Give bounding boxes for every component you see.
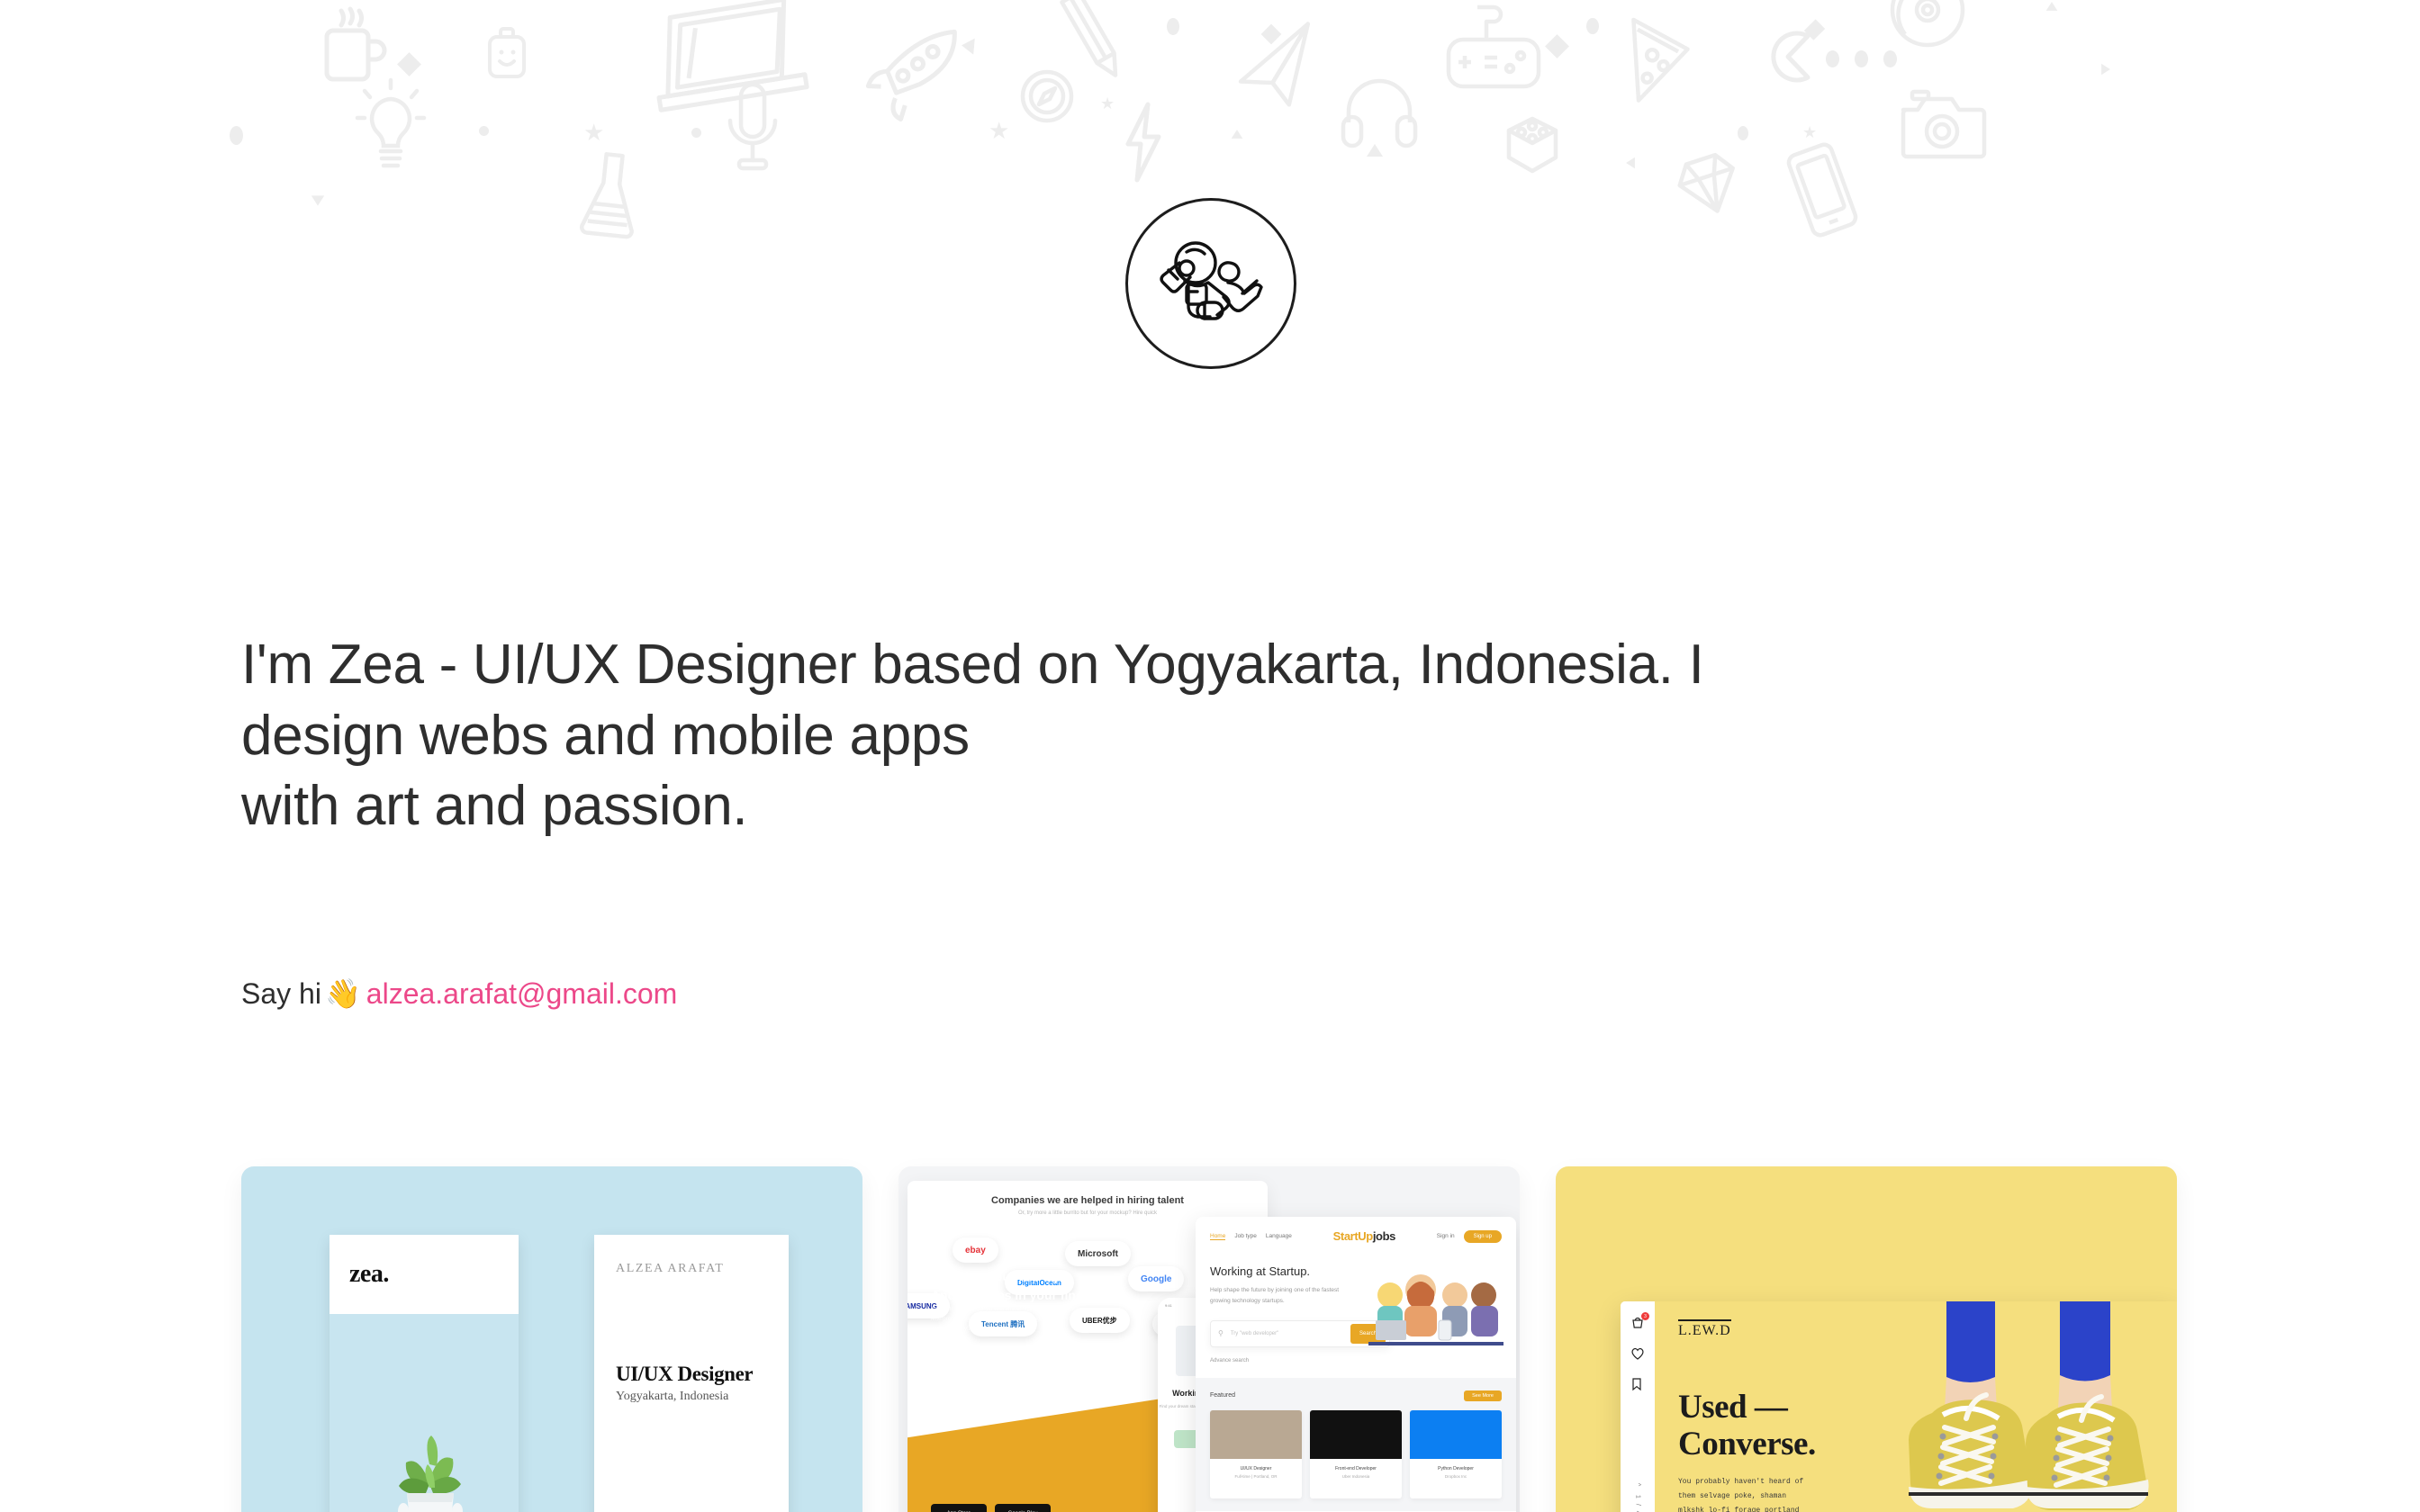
lewd-site-mockup: 3 ^ 1 / 4 v L.EW.D (1621, 1301, 2177, 1512)
carousel-pagination[interactable]: ^ 1 / 4 v (1635, 1483, 1641, 1512)
project-card-zea-branding[interactable]: zea. (241, 1166, 862, 1512)
cd-icon (1889, 0, 1966, 49)
product-description: You probably haven't heard of them selva… (1678, 1475, 1813, 1512)
dot-icon (1738, 126, 1748, 140)
brand-part-2: jobs (1373, 1229, 1395, 1243)
search-icon: ⚲ (1211, 1329, 1224, 1337)
project-card-grid: zea. (241, 1166, 2177, 1512)
say-hi-label: Say hi (241, 979, 321, 1008)
jobs-companies-subtitle: Or, try more a little burrito but for yo… (907, 1210, 1268, 1216)
dot-icon (1167, 18, 1179, 35)
shop-product-panel: L.EW.D Used — Converse. You probably hav… (1655, 1301, 2177, 1512)
site-brand-logo: StartUpjobs (1333, 1229, 1395, 1243)
triangle-icon (312, 195, 324, 205)
carousel-index: 1 / 4 (1635, 1495, 1641, 1512)
diamond-shape-icon (1261, 24, 1282, 45)
pacman-icon (1765, 31, 1811, 83)
lewd-wordmark: L.EW.D (1678, 1319, 1731, 1339)
brand-part-1: StartUp (1333, 1229, 1373, 1243)
triangle-icon (2101, 64, 2110, 76)
logo-chip-microsoft: Microsoft (1065, 1241, 1131, 1266)
headline-line-2: design webs and mobile apps (241, 701, 2132, 772)
jobs-promo-title-2: And find jobs in your fingertips! (931, 1286, 1122, 1305)
nav-language[interactable]: Language (1266, 1233, 1292, 1239)
contact-line: Say hi 👋 alzea.arafat@gmail.com (241, 979, 677, 1008)
logo-circle (1125, 198, 1296, 369)
project-card-lewd-shop[interactable]: 3 ^ 1 / 4 v L.EW.D (1556, 1166, 2177, 1512)
featured-header: Featured See More (1210, 1390, 1502, 1401)
jobs-promo-title-1: Download our free App, (931, 1267, 1122, 1286)
job-meta: Full-time | Portland, OR (1210, 1474, 1302, 1479)
zea-card-logo-strip: zea. (330, 1235, 519, 1314)
project-card-startup-jobs[interactable]: Companies we are helped in hiring talent… (898, 1166, 1520, 1512)
astronaut-logo[interactable] (1125, 198, 1296, 369)
headline-line-3: with art and passion. (241, 771, 2132, 842)
zea-card-role: UI/UX Designer (616, 1363, 767, 1386)
jobs-promo-body: Aut dunts deep a polaroid viral ethical … (931, 1305, 1093, 1334)
headline-line-1: I'm Zea - UI/UX Designer based on Yogyak… (241, 630, 2132, 701)
site-hero: Working at Startup. Help shape the futur… (1196, 1255, 1516, 1378)
gamepad-icon (1445, 2, 1542, 92)
cart-count-badge: 3 (1641, 1312, 1649, 1320)
cart-icon[interactable]: 3 (1630, 1316, 1645, 1330)
nav-signup-button[interactable]: Sign up (1464, 1230, 1502, 1243)
zea-card-front: zea. (330, 1235, 519, 1512)
zea-card-back: ALZEA ARAFAT UI/UX Designer Yogyakarta, … (594, 1235, 789, 1512)
nav-job-type[interactable]: Job type (1234, 1233, 1257, 1239)
astronaut-icon (1152, 225, 1269, 342)
featured-jobs-section: Featured See More UI/UX Designer Full-ti… (1196, 1378, 1516, 1511)
team-illustration (1368, 1268, 1503, 1351)
carousel-up-arrow[interactable]: ^ (1635, 1483, 1641, 1488)
job-card[interactable]: UI/UX Designer Full-time | Portland, OR (1210, 1410, 1302, 1498)
job-card[interactable]: Python Developer Dropbox Inc (1410, 1410, 1502, 1498)
nav-home[interactable]: Home (1210, 1233, 1225, 1240)
job-title: Python Developer (1410, 1466, 1502, 1471)
converse-shoes-image (1880, 1301, 2177, 1512)
see-more-button[interactable]: See More (1464, 1390, 1502, 1401)
pizza-icon (1614, 13, 1698, 112)
portfolio-page: I'm Zea - UI/UX Designer based on Yogyak… (0, 0, 2420, 1512)
heart-icon[interactable] (1630, 1346, 1645, 1361)
email-link[interactable]: alzea.arafat@gmail.com (366, 979, 678, 1008)
zea-wordmark: zea. (349, 1260, 389, 1289)
dot-icon (1586, 18, 1599, 34)
job-thumb (1410, 1410, 1502, 1459)
jobs-promo-title: Download our free App, And find jobs in … (931, 1267, 1122, 1305)
triangle-icon (1367, 144, 1383, 157)
dot-icon (1826, 50, 1839, 67)
job-company: Dropbox Inc (1410, 1474, 1502, 1479)
zea-card-name: ALZEA ARAFAT (616, 1262, 767, 1276)
succulent-plant-image (362, 1425, 497, 1512)
diamond-shape-icon (1804, 19, 1825, 40)
bookmark-icon[interactable] (1630, 1377, 1645, 1391)
job-title: Front-end Developer (1310, 1466, 1402, 1471)
lightning-icon (1121, 101, 1166, 184)
google-play-badge[interactable]: Google Play (995, 1504, 1051, 1512)
app-store-badges: App Store Google Play (931, 1504, 1051, 1512)
job-title: UI/UX Designer (1210, 1466, 1302, 1471)
waving-hand-icon: 👋 (325, 979, 361, 1008)
dot-icon (479, 126, 489, 136)
page-headline: I'm Zea - UI/UX Designer based on Yogyak… (241, 630, 2132, 842)
coffee-mug-icon (320, 7, 388, 86)
job-thumb (1210, 1410, 1302, 1459)
startupjobs-site-mockup: Home Job type Language StartUpjobs Sign … (1196, 1217, 1516, 1512)
featured-label: Featured (1210, 1392, 1235, 1399)
flask-icon (576, 148, 645, 240)
featured-job-cards: UI/UX Designer Full-time | Portland, OR … (1210, 1410, 1502, 1498)
logo-chip-ebay: ebay (953, 1237, 998, 1263)
triangle-icon (961, 37, 975, 54)
camera-icon (1900, 90, 1984, 160)
job-search-bar[interactable]: ⚲ Try "web developer" Search (1210, 1320, 1390, 1347)
app-store-badge[interactable]: App Store (931, 1504, 987, 1512)
triangle-icon (1626, 157, 1635, 169)
advance-search-toggle[interactable]: Advance search (1210, 1358, 1502, 1363)
dot-icon (691, 128, 701, 138)
lego-brick-icon (1503, 115, 1561, 175)
smartphone-icon (1782, 138, 1862, 242)
shop-side-rail: 3 ^ 1 / 4 v (1621, 1301, 1655, 1512)
logo-chip-google: Google (1128, 1266, 1184, 1291)
headphones-icon (1341, 76, 1417, 148)
compass-icon (1019, 68, 1075, 124)
jobs-companies-title: Companies we are helped in hiring talent (907, 1195, 1268, 1206)
search-placeholder: Try "web developer" (1224, 1331, 1350, 1336)
hero-body: Help shape the future by joining one of … (1210, 1285, 1345, 1308)
diamond-icon (1671, 146, 1747, 224)
job-company: Uber Indonesia (1310, 1474, 1402, 1479)
dot-icon (1883, 50, 1897, 67)
lightbulb-icon (356, 77, 426, 176)
job-thumb (1310, 1410, 1402, 1459)
microphone-icon (725, 81, 781, 176)
job-card[interactable]: Front-end Developer Uber Indonesia (1310, 1410, 1402, 1498)
diamond-shape-icon (397, 52, 421, 76)
triangle-icon (2046, 2, 2058, 11)
site-navbar: Home Job type Language StartUpjobs Sign … (1196, 1217, 1516, 1255)
lego-head-icon (486, 27, 528, 83)
pencil-icon (1049, 0, 1138, 93)
paper-plane-icon (1227, 20, 1331, 120)
rocket-icon (856, 11, 971, 132)
zea-card-location: Yogyakarta, Indonesia (616, 1390, 767, 1404)
laptop-icon (638, 0, 817, 127)
dot-icon (1855, 50, 1868, 67)
diamond-shape-icon (1545, 34, 1569, 58)
nav-signin[interactable]: Sign in (1437, 1233, 1455, 1239)
dot-icon (230, 126, 243, 145)
triangle-icon (1232, 130, 1243, 139)
